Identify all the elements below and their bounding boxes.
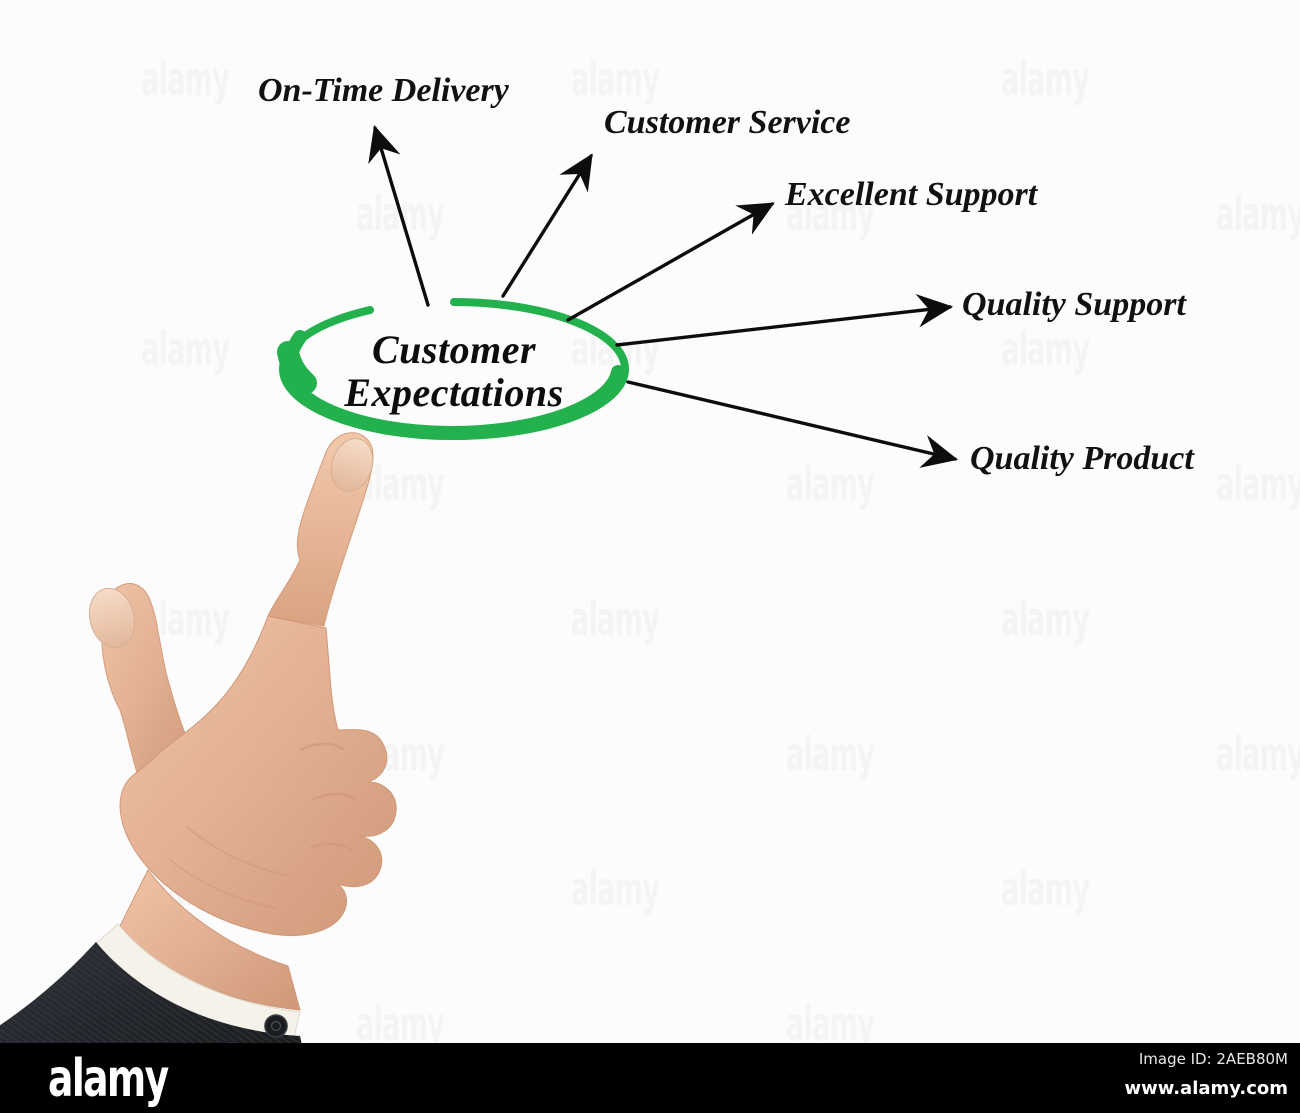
arrow-excellent-support <box>568 204 772 320</box>
footer-url: www.alamy.com <box>1028 1078 1288 1099</box>
label-on-time-delivery: On-Time Delivery <box>258 72 509 110</box>
arrow-customer-service <box>503 156 591 296</box>
arrow-quality-product <box>628 382 955 459</box>
arrow-on-time-delivery <box>375 128 428 305</box>
label-customer-service: Customer Service <box>604 104 850 142</box>
screenshot-canvas: alamyalamyalamyalamyalamyalamyalamyalamy… <box>0 0 1300 1113</box>
arrow-quality-support <box>617 307 950 345</box>
label-excellent-support: Excellent Support <box>785 176 1037 214</box>
footer-image-id: Image ID: 2AEB80M <box>1028 1050 1288 1068</box>
alamy-logo: alamy <box>48 1048 168 1108</box>
label-quality-product: Quality Product <box>970 440 1194 478</box>
center-ellipse <box>283 302 625 436</box>
diagram-layer: Customer Expectations On-Time DeliveryCu… <box>0 0 1300 1113</box>
label-quality-support: Quality Support <box>962 286 1186 324</box>
